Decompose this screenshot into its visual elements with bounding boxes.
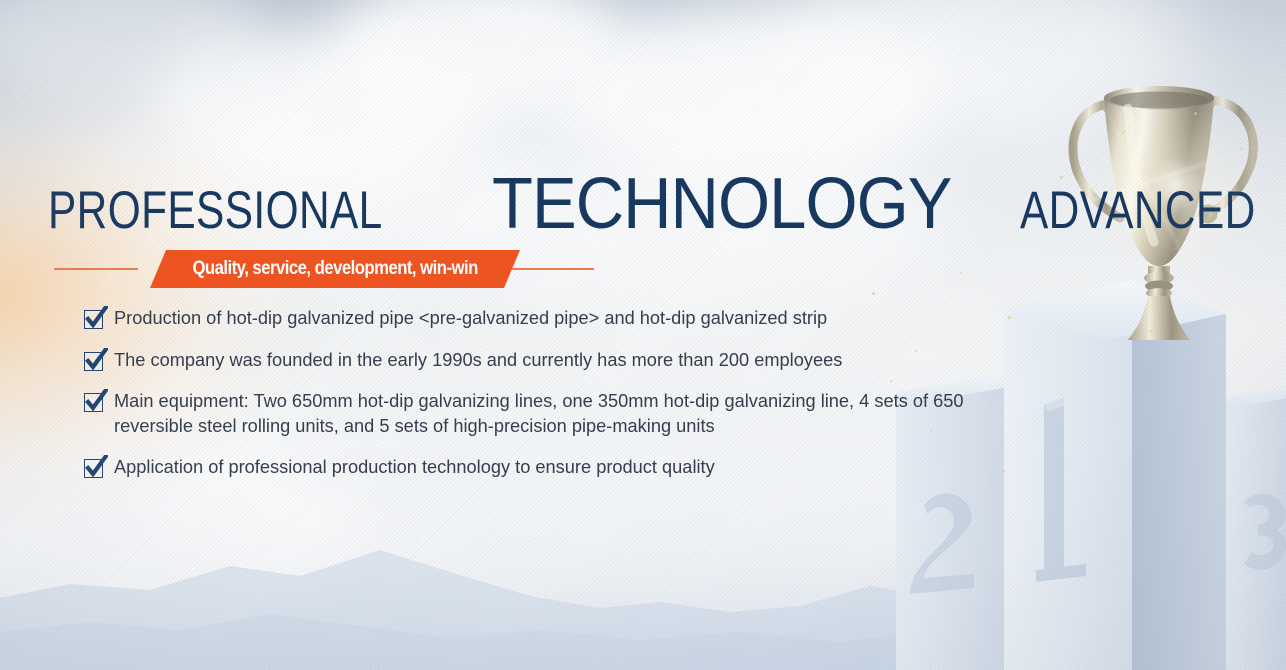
ribbon-text: Quality, service, development, win-win xyxy=(192,258,477,280)
ribbon-line-right xyxy=(512,268,594,270)
promotional-banner: PROFESSIONALTECHNOLOGYADVANCEDEQUIPMENT … xyxy=(0,0,1286,670)
list-item-text: Main equipment: Two 650mm hot-dip galvan… xyxy=(114,389,1015,438)
gold-speck xyxy=(872,292,875,295)
gold-speck xyxy=(960,272,962,274)
list-item: Main equipment: Two 650mm hot-dip galvan… xyxy=(84,389,1044,438)
feature-list: Production of hot-dip galvanized pipe <p… xyxy=(84,306,1044,497)
headline-word-advanced: ADVANCED xyxy=(1020,184,1256,237)
gold-speck xyxy=(1240,148,1242,150)
list-item-text: Application of professional production t… xyxy=(114,455,715,480)
list-item: The company was founded in the early 199… xyxy=(84,348,1044,373)
ribbon-banner: Quality, service, development, win-win xyxy=(150,250,520,288)
ribbon-line-left xyxy=(54,268,138,270)
headline: PROFESSIONALTECHNOLOGYADVANCEDEQUIPMENT xyxy=(48,168,1286,240)
checkbox-checked-icon xyxy=(84,392,105,413)
tagline-ribbon: Quality, service, development, win-win xyxy=(50,250,595,288)
headline-word-technology: TECHNOLOGY xyxy=(492,168,951,240)
gold-speck xyxy=(1122,132,1124,134)
checkbox-checked-icon xyxy=(84,309,105,330)
list-item-text: The company was founded in the early 199… xyxy=(114,348,842,373)
gold-speck xyxy=(1194,112,1197,115)
headline-word-professional: PROFESSIONAL xyxy=(48,184,383,237)
list-item: Production of hot-dip galvanized pipe <p… xyxy=(84,306,1044,331)
checkbox-checked-icon xyxy=(84,458,105,479)
list-item: Application of professional production t… xyxy=(84,455,1044,480)
checkbox-checked-icon xyxy=(84,351,105,372)
list-item-text: Production of hot-dip galvanized pipe <p… xyxy=(114,306,827,331)
gold-speck xyxy=(1150,330,1152,332)
